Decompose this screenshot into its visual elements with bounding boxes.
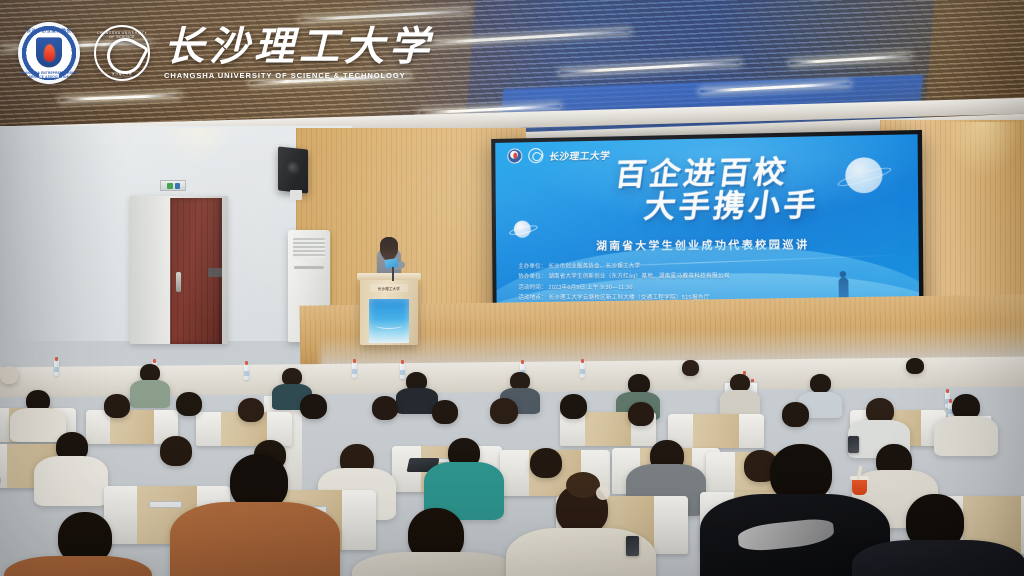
screen-title-line2: 大手携小手 — [550, 189, 919, 225]
audience-head — [560, 394, 587, 419]
speaker-mount-bracket — [290, 190, 302, 200]
wall-speaker-icon — [278, 146, 308, 193]
exit-green-glyph — [167, 183, 173, 189]
audience-torso — [130, 380, 170, 408]
info-value-organizer: 长沙市创业服务协会、长沙理工大学 — [548, 263, 640, 269]
audience-torso — [34, 456, 108, 506]
audience-head — [530, 448, 562, 478]
drink-cup — [852, 478, 867, 495]
audience-head — [628, 374, 650, 394]
audience-torso-foreground — [852, 540, 1024, 576]
lecture-hall-photo: 长沙理工大学 百企进百校 大手携小手 湖南省大学生创业成功代表校园巡讲 主办单位… — [0, 0, 1024, 576]
audience-area — [0, 336, 1024, 576]
smartphone — [848, 436, 859, 453]
audience-head — [682, 360, 699, 376]
audience-head — [432, 400, 458, 424]
audience-head — [300, 394, 327, 419]
audience-torso — [720, 390, 760, 416]
presenter-hair — [380, 237, 398, 259]
screen-display-surface: 长沙理工大学 百企进百校 大手携小手 湖南省大学生创业成功代表校园巡讲 主办单位… — [495, 134, 919, 317]
association-seal-logo: 长沙市创业服务协会 CHANGSHA ENTREPRENEURSHIP SERV… — [18, 22, 80, 84]
university-logo-ring-bottom: 长沙理工大学 — [96, 72, 148, 76]
auditorium-seat[interactable] — [668, 414, 764, 448]
university-name-english: CHANGSHA UNIVERSITY OF SCIENCE & TECHNOL… — [164, 71, 434, 80]
watermark-logo-group: 长沙市创业服务协会 CHANGSHA ENTREPRENEURSHIP SERV… — [18, 22, 434, 84]
podium-top-surface — [357, 273, 421, 280]
university-name-chinese: 长沙理工大学 — [164, 27, 434, 67]
audience-head — [810, 374, 831, 393]
podium-nameplate-text: 长沙理工大学 — [378, 286, 400, 291]
smartphone — [626, 536, 639, 556]
university-circular-logo: CHANGSHA UNIVERSITY OF SCIENCE 长沙理工大学 — [94, 25, 150, 81]
audience-head — [160, 436, 192, 466]
seat-number-tag — [149, 501, 182, 508]
info-line-coorganizer: 协办单位：湖南省大学生创新创业（东方红áq）基地、湖南星马教育科技有限公司 — [518, 272, 730, 283]
seal-ring-text-top: 长沙市创业服务协会 — [18, 28, 80, 34]
exit-blue-glyph — [175, 183, 180, 189]
audience-head — [906, 358, 924, 374]
ac-vent-slot — [294, 266, 324, 269]
seal-ring-text-bottom: CHANGSHA ENTREPRENEURSHIP SERVICE ASSOCI… — [18, 71, 80, 79]
exit-sign-icon — [160, 180, 186, 191]
audience-head — [628, 402, 654, 426]
podium-nameplate: 长沙理工大学 — [370, 284, 408, 292]
left-wall-shadow — [0, 126, 120, 341]
hair-bun — [566, 472, 600, 498]
audience-torso — [10, 408, 66, 442]
audience-torso — [934, 416, 998, 456]
seat-right-frame — [739, 414, 764, 448]
seat-left-frame — [500, 450, 529, 496]
association-seal-icon — [507, 148, 522, 163]
audience-head — [104, 394, 130, 418]
seat-right-frame — [342, 490, 376, 550]
audience-head — [372, 396, 398, 420]
info-value-coorganizer: 湖南省大学生创新创业（东方红áq）基地、湖南星马教育科技有限公司 — [548, 274, 730, 281]
wall-socket — [208, 268, 222, 277]
info-value-time: 2023年6月9日 上午 9:30—11:30 — [548, 285, 632, 291]
audience-torso-foreground — [170, 502, 340, 576]
microphone-stand — [392, 267, 394, 281]
info-label-coorganizer: 协办单位： — [518, 272, 548, 283]
hair-tie — [596, 486, 610, 500]
university-logo-ring-top: CHANGSHA UNIVERSITY OF SCIENCE — [96, 31, 148, 39]
screen-title-block: 百企进百校 大手携小手 — [495, 155, 918, 225]
info-label-time: 活动时间： — [518, 283, 548, 294]
right-wall-wash-light — [938, 122, 1024, 252]
flame-icon — [44, 44, 55, 61]
audience-head — [176, 392, 202, 416]
audience-torso-foreground — [352, 552, 520, 576]
seat-right-frame — [654, 496, 688, 554]
info-line-organizer: 主办单位：长沙市创业服务协会、长沙理工大学 — [518, 261, 730, 272]
audience-head — [238, 398, 264, 422]
audience-torso-foreground — [4, 556, 152, 576]
podium: 长沙理工大学 — [360, 277, 418, 345]
university-wordmark-block: 长沙理工大学 CHANGSHA UNIVERSITY OF SCIENCE & … — [164, 27, 434, 80]
door-handle[interactable] — [176, 272, 181, 292]
seat-left-frame — [0, 408, 9, 442]
speaker-cone — [287, 161, 300, 175]
audience-head — [0, 366, 18, 384]
seal-shield-icon — [36, 37, 62, 67]
info-line-time: 活动时间：2023年6月9日 上午 9:30—11:30 — [518, 283, 730, 294]
screen-event-info-block: 主办单位：长沙市创业服务协会、长沙理工大学 协办单位：湖南省大学生创新创业（东方… — [518, 261, 730, 304]
led-presentation-screen[interactable]: 长沙理工大学 百企进百校 大手携小手 湖南省大学生创业成功代表校园巡讲 主办单位… — [491, 130, 924, 322]
screen-title-line1: 百企进百校 — [495, 155, 919, 193]
info-label-organizer: 主办单位： — [518, 262, 548, 273]
audience-head — [490, 398, 518, 424]
seat-left-frame — [0, 444, 7, 488]
audience-head — [782, 402, 809, 427]
university-logo-icon — [528, 148, 543, 163]
seat-left-frame — [196, 412, 221, 446]
ac-grill — [293, 238, 325, 258]
